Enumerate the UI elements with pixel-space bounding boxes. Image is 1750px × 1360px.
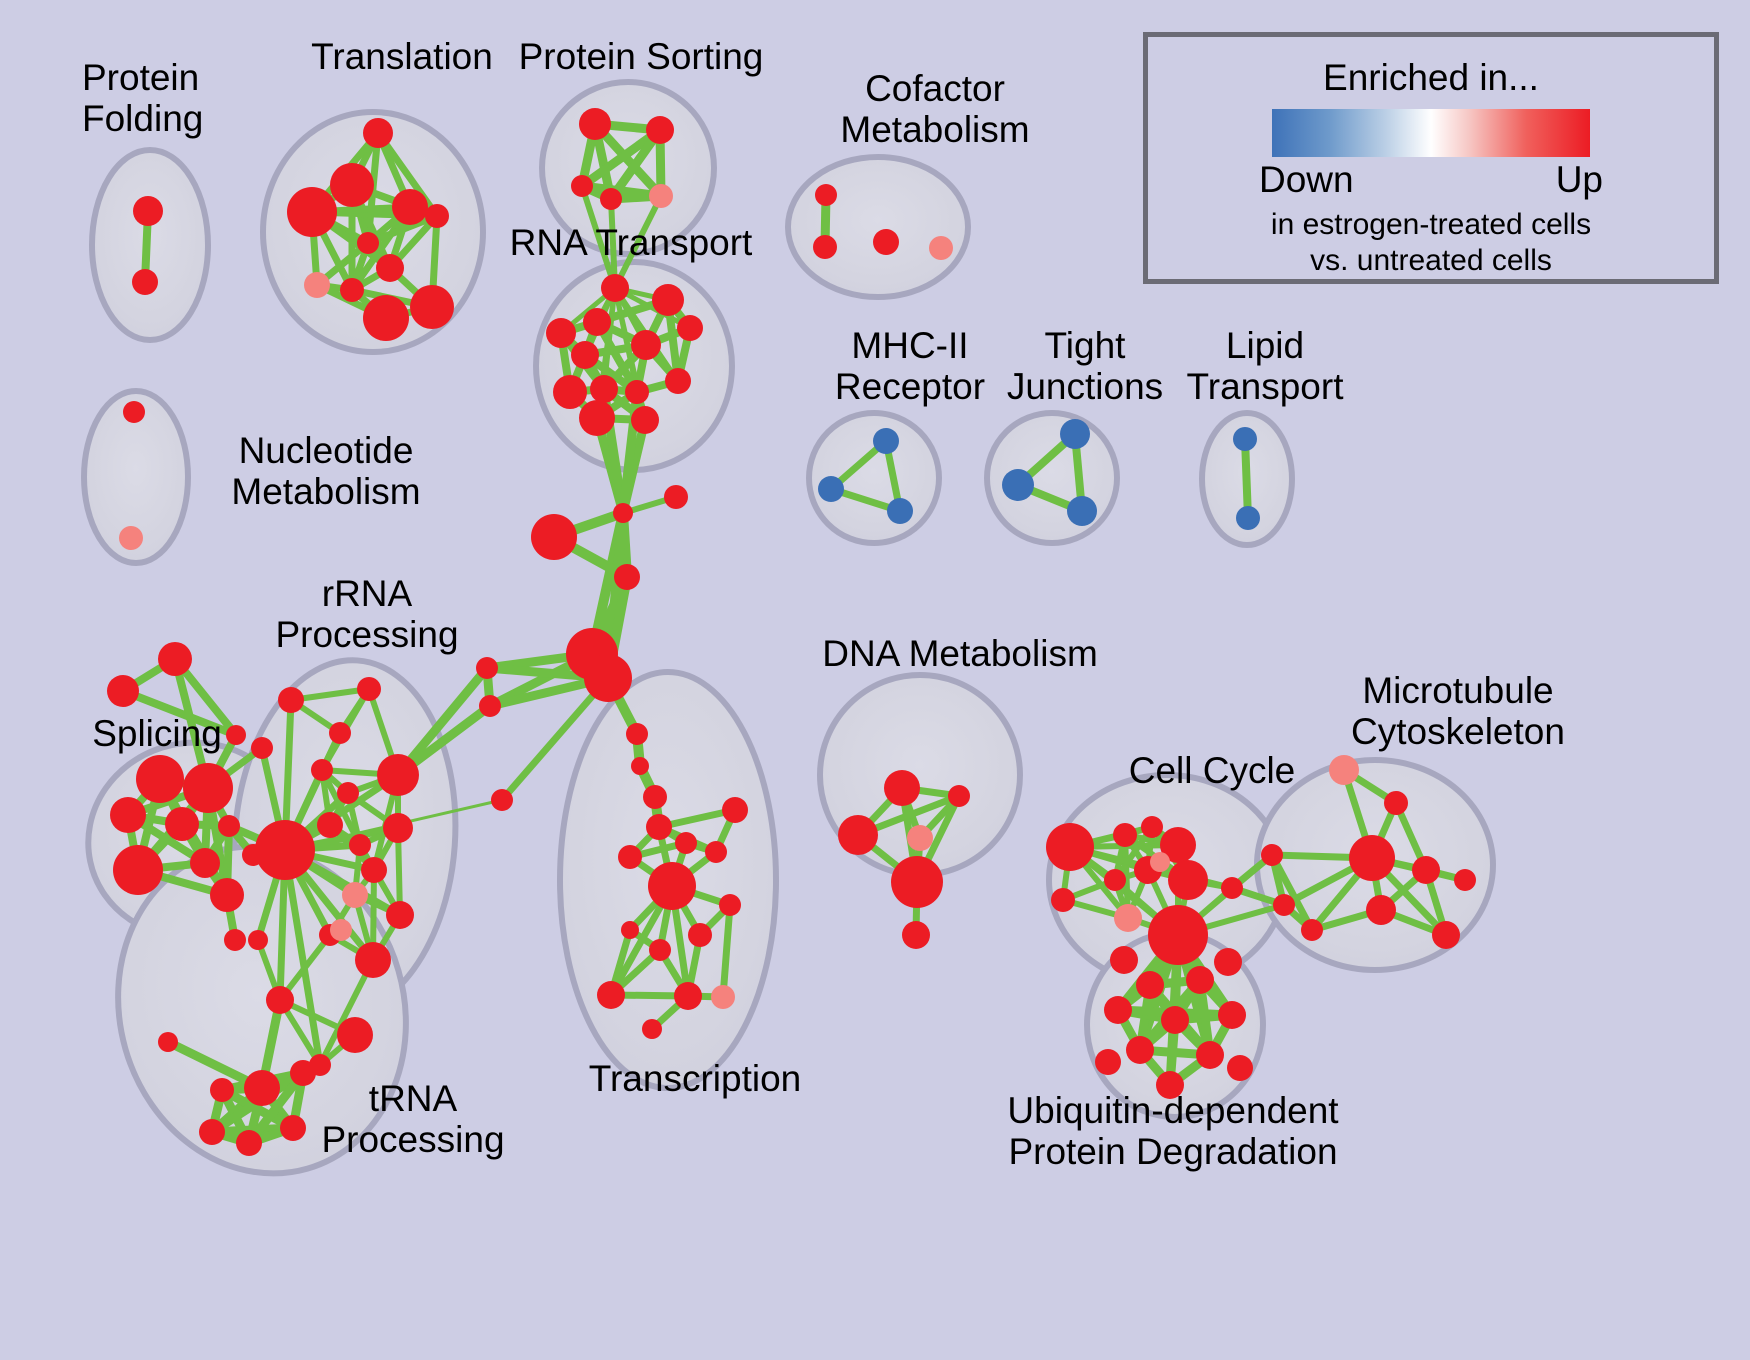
hull-cofactor [788, 157, 968, 297]
network-figure: Protein Folding Translation Protein Sort… [0, 0, 1750, 1360]
legend-panel: Enriched in... Down Up in estrogen-treat… [1143, 32, 1719, 284]
legend-subtitle-line1: in estrogen-treated cells [1271, 207, 1591, 243]
legend-title: Enriched in... [1323, 57, 1539, 99]
legend-label-up: Up [1556, 159, 1603, 201]
legend-color-gradient-bar [1272, 109, 1590, 157]
legend-label-down: Down [1259, 159, 1354, 201]
legend-endpoints: Down Up [1259, 159, 1603, 201]
legend-subtitle-line2: vs. untreated cells [1271, 243, 1591, 279]
legend-subtitle: in estrogen-treated cells vs. untreated … [1271, 207, 1591, 279]
